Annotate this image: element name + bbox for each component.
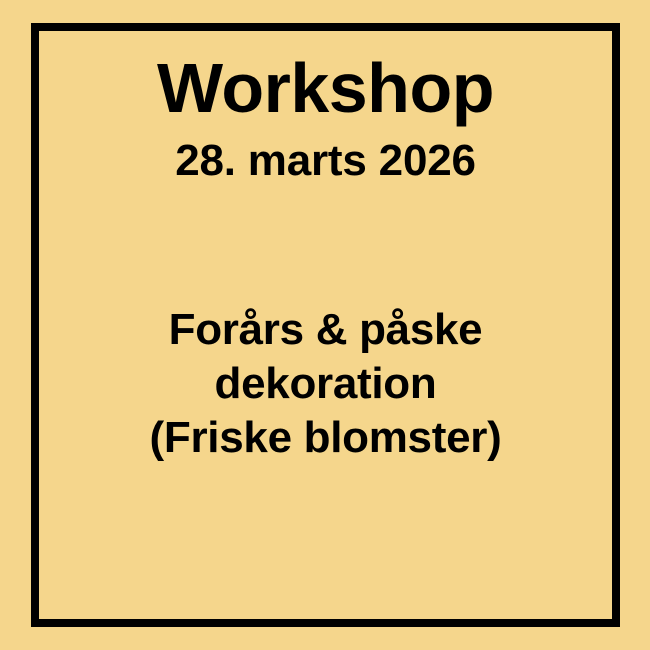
poster-body-line-1: Forårs & påske xyxy=(39,308,612,352)
poster-header-block: Workshop 28. marts 2026 xyxy=(39,53,612,183)
poster-date: 28. marts 2026 xyxy=(39,139,612,183)
page-title: Workshop xyxy=(39,53,612,123)
workshop-poster: Workshop 28. marts 2026 Forårs & påske d… xyxy=(0,0,650,650)
poster-body-line-2: dekoration xyxy=(39,362,612,406)
poster-body-block: Forårs & påske dekoration (Friske blomst… xyxy=(39,308,612,460)
poster-body-line-3: (Friske blomster) xyxy=(39,416,612,460)
poster-content: Workshop 28. marts 2026 Forårs & påske d… xyxy=(39,31,612,619)
